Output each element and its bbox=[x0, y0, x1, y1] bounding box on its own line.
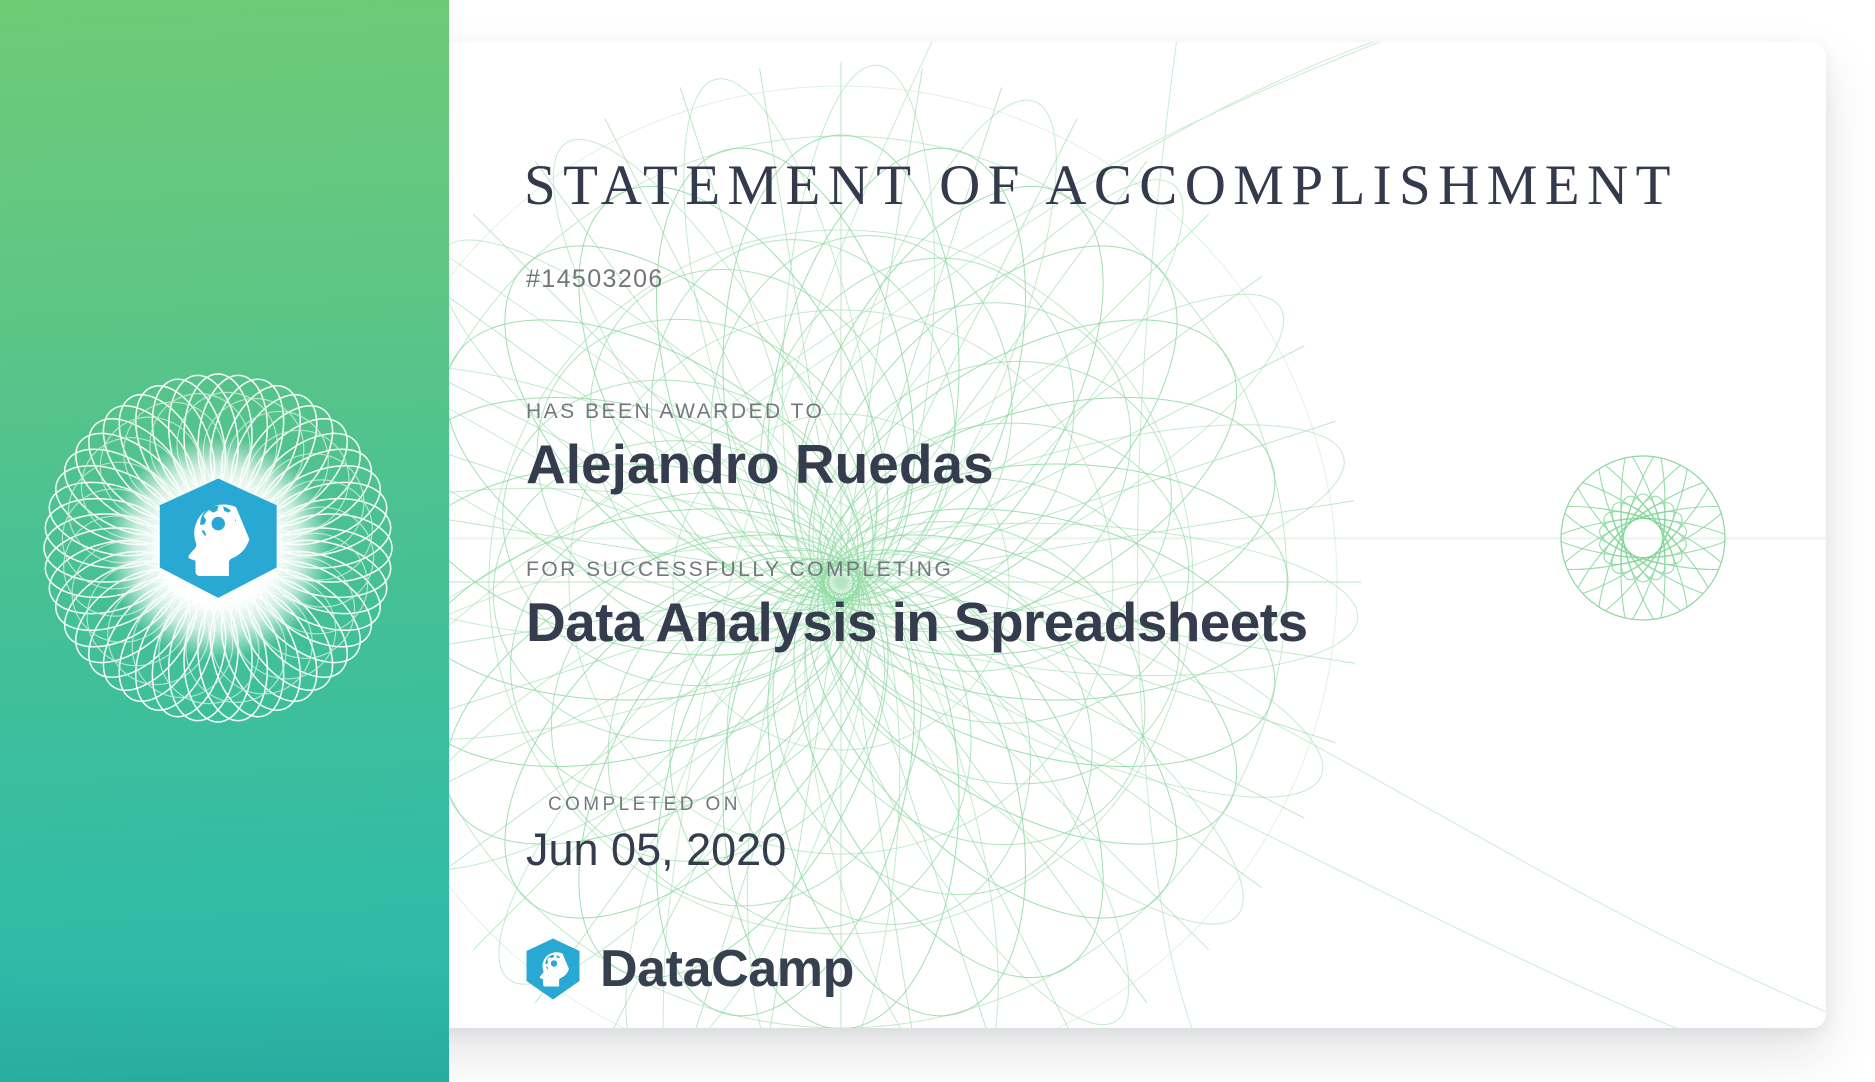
recipient-name: Alejandro Ruedas bbox=[526, 436, 994, 494]
guilloche-rosette-seal-icon bbox=[42, 372, 394, 724]
course-label: FOR SUCCESSFULLY COMPLETING bbox=[526, 558, 1307, 582]
certificate-page: STATEMENT OF ACCOMPLISHMENT #14503206 HA… bbox=[0, 0, 1875, 1082]
certificate-id: #14503206 bbox=[526, 265, 664, 294]
completed-on-date: Jun 05, 2020 bbox=[526, 824, 786, 876]
awarded-to-block: HAS BEEN AWARDED TO Alejandro Ruedas bbox=[526, 400, 994, 494]
datacamp-shield-head-gear-icon bbox=[524, 937, 582, 1001]
completed-on-block: COMPLETED ON Jun 05, 2020 bbox=[548, 794, 786, 876]
accomplishment-seal bbox=[42, 372, 394, 724]
datacamp-wordmark: DataCamp bbox=[600, 943, 854, 995]
certificate-content: STATEMENT OF ACCOMPLISHMENT #14503206 HA… bbox=[524, 42, 1826, 1028]
page-title: STATEMENT OF ACCOMPLISHMENT bbox=[524, 157, 1678, 214]
course-name: Data Analysis in Spreadsheets bbox=[526, 594, 1307, 652]
brand-panel-shade bbox=[0, 952, 449, 1082]
awarded-to-label: HAS BEEN AWARDED TO bbox=[526, 400, 994, 424]
course-block: FOR SUCCESSFULLY COMPLETING Data Analysi… bbox=[526, 558, 1307, 652]
completed-on-label: COMPLETED ON bbox=[548, 794, 786, 816]
brand-panel bbox=[0, 0, 449, 1082]
datacamp-logo: DataCamp bbox=[524, 937, 854, 1001]
